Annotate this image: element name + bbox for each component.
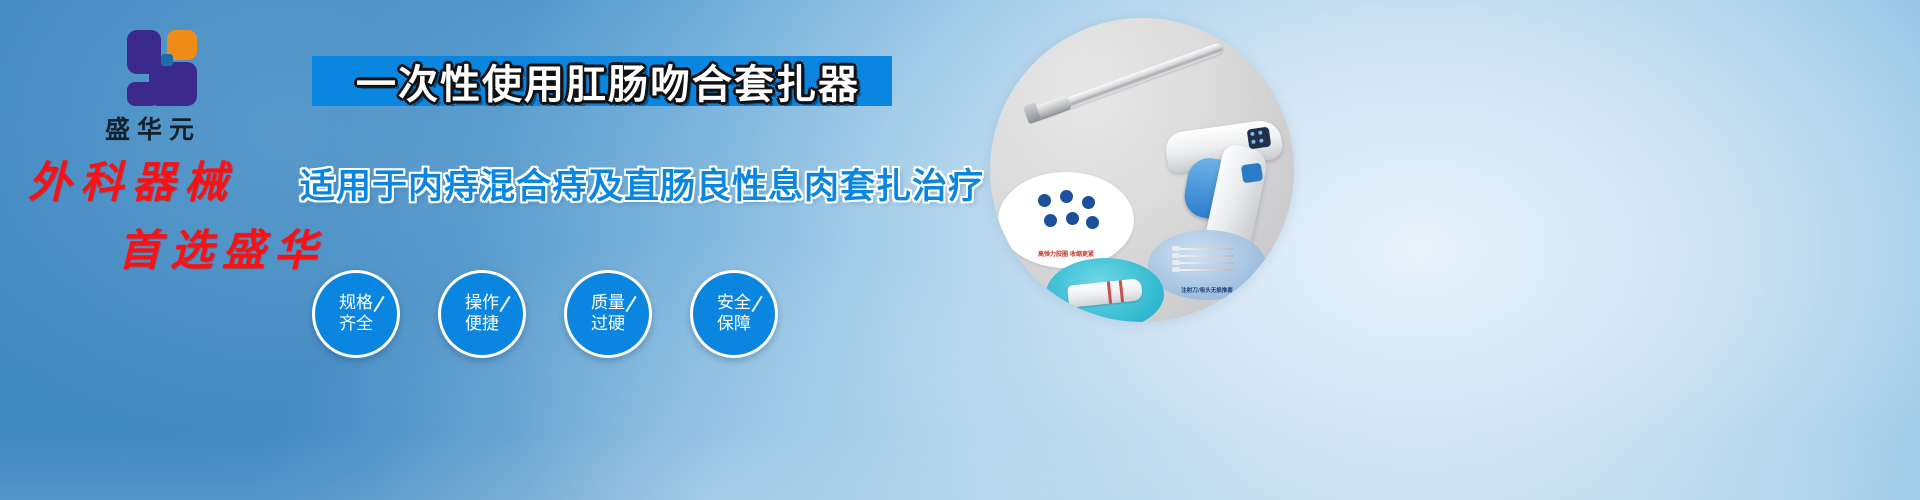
page-title: 一次性使用肛肠吻合套扎器: [318, 54, 898, 108]
device-keypad: [1247, 127, 1272, 150]
feature-badge-line1: 安全: [717, 293, 751, 314]
slogan-line-2: 首选盛华: [0, 216, 400, 278]
brand-logo[interactable]: 盛华元: [62, 26, 237, 146]
feature-badge-line2: 过硬: [591, 314, 625, 335]
inset-needles-photo: 注射刀/吸头无损推套: [1148, 230, 1266, 300]
product-photo: 高弹力胶圈 收缩更紧 注射刀/吸头无损推套: [990, 18, 1294, 322]
feature-badge-line2: 便捷: [465, 314, 499, 335]
feature-badge-line1: 规格: [339, 293, 373, 314]
promo-banner: 盛华元 外科器械 首选盛华 一次性使用肛肠吻合套扎器 适用于内痔混合痔及直肠良性…: [0, 0, 1920, 500]
feature-badge-line1: 操作: [465, 293, 499, 314]
feature-badge[interactable]: 操作 便捷: [438, 270, 526, 358]
logo-block-notch: [161, 54, 173, 66]
feature-badge-list: 规格 齐全 操作 便捷 质量 过硬 安全 保障: [312, 270, 778, 358]
inset-needles-caption: 注射刀/吸头无损推套: [1148, 286, 1266, 294]
slash-icon: [751, 296, 762, 312]
feature-badge-line1: 质量: [591, 293, 625, 314]
inset-rings-caption: 高弹力胶圈 收缩更紧: [998, 249, 1134, 258]
logo-block-bottom: [127, 82, 159, 106]
slash-icon: [499, 296, 510, 312]
inset-cartridge-photo: [1046, 258, 1164, 322]
feature-badge[interactable]: 安全 保障: [690, 270, 778, 358]
product-photo-inner: 高弹力胶圈 收缩更紧 注射刀/吸头无损推套: [990, 18, 1294, 322]
feature-badge[interactable]: 质量 过硬: [564, 270, 652, 358]
device-button: [1241, 163, 1263, 184]
feature-badge-line2: 保障: [717, 314, 751, 335]
slash-icon: [625, 296, 636, 312]
slash-icon: [373, 296, 384, 312]
brand-name: 盛华元: [62, 110, 237, 146]
inset-rings-photo: 高弹力胶圈 收缩更紧: [998, 172, 1134, 268]
bottom-fade-overlay: [0, 430, 1920, 500]
cartridge-body: [1067, 278, 1143, 308]
feature-badge[interactable]: 规格 齐全: [312, 270, 400, 358]
logo-mark-icon: [107, 26, 193, 104]
feature-badge-line2: 齐全: [339, 314, 373, 335]
page-subtitle: 适用于内痔混合痔及直肠良性息肉套扎治疗: [300, 158, 920, 209]
